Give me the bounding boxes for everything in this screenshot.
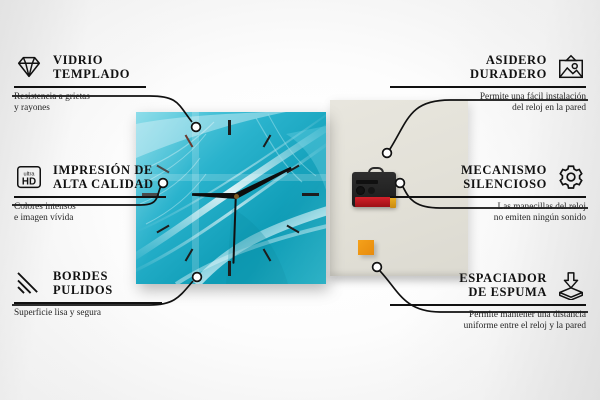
feature-mecanismo-silencioso: MECANISMO SILENCIOSO Las manecillas del … (371, 162, 586, 224)
feature-divider (14, 86, 146, 88)
feature-title-line2: DE ESPUMA (459, 285, 547, 299)
feature-title-line2: DURADERO (470, 67, 547, 81)
feature-impresion-alta-calidad: ultra HD IMPRESIÓN DE ALTA CALIDAD Color… (14, 162, 229, 224)
feature-desc-line1: Permite una fácil instalación (371, 92, 586, 103)
feature-desc-line1: Colores intensos (14, 202, 229, 213)
connector-dot-asidero (383, 149, 392, 158)
feature-title-line1: BORDES (53, 269, 113, 283)
feature-desc-line1: Superficie lisa y segura (14, 308, 229, 319)
feature-title-line2: ALTA CALIDAD (53, 177, 154, 191)
feature-divider (14, 302, 162, 304)
connector-dot-vidrio-templado (192, 123, 201, 132)
ultra-hd-icon-main-text: HD (22, 177, 36, 188)
diamond-icon (14, 52, 44, 82)
feature-desc-line1: Las manecillas del reloj (371, 202, 586, 213)
ultra-hd-icon: ultra HD (14, 162, 44, 192)
feature-espaciador-de-espuma: ESPACIADOR DE ESPUMA Permite mantener un… (371, 270, 586, 332)
feature-vidrio-templado: VIDRIO TEMPLADO Resistencia a grietas y … (14, 52, 229, 114)
picture-hanger-icon (556, 52, 586, 82)
feature-desc-line1: Resistencia a grietas (14, 92, 229, 103)
feature-title-line1: ASIDERO (470, 53, 547, 67)
feature-desc-line2: uniforme entre el reloj y la pared (371, 321, 586, 332)
feature-desc-line2: e imagen vívida (14, 213, 229, 224)
feature-asidero-duradero: ASIDERO DURADERO Permite una fácil insta… (371, 52, 586, 114)
feature-title-line1: VIDRIO (53, 53, 130, 67)
feature-desc-line2: y rayones (14, 103, 229, 114)
feature-divider (14, 196, 166, 198)
feature-bordes-pulidos: BORDES PULIDOS Superficie lisa y segura (14, 268, 229, 319)
feature-desc-line1: Permite mantener una distancia (371, 310, 586, 321)
gear-icon (556, 162, 586, 192)
feature-divider (390, 196, 586, 198)
feature-title-line2: SILENCIOSO (461, 177, 547, 191)
foam-spacer-icon (556, 270, 586, 300)
feature-title-line1: MECANISMO (461, 163, 547, 177)
feature-title-line1: IMPRESIÓN DE (53, 163, 154, 177)
feature-desc-line2: del reloj en la pared (371, 103, 586, 114)
polished-edges-icon (14, 268, 44, 298)
feature-desc-line2: no emiten ningún sonido (371, 213, 586, 224)
feature-title-line2: TEMPLADO (53, 67, 130, 81)
feature-divider (390, 304, 586, 306)
feature-divider (390, 86, 586, 88)
feature-title-line2: PULIDOS (53, 283, 113, 297)
infographic-canvas: VIDRIO TEMPLADO Resistencia a grietas y … (0, 0, 600, 400)
feature-title-line1: ESPACIADOR (459, 271, 547, 285)
